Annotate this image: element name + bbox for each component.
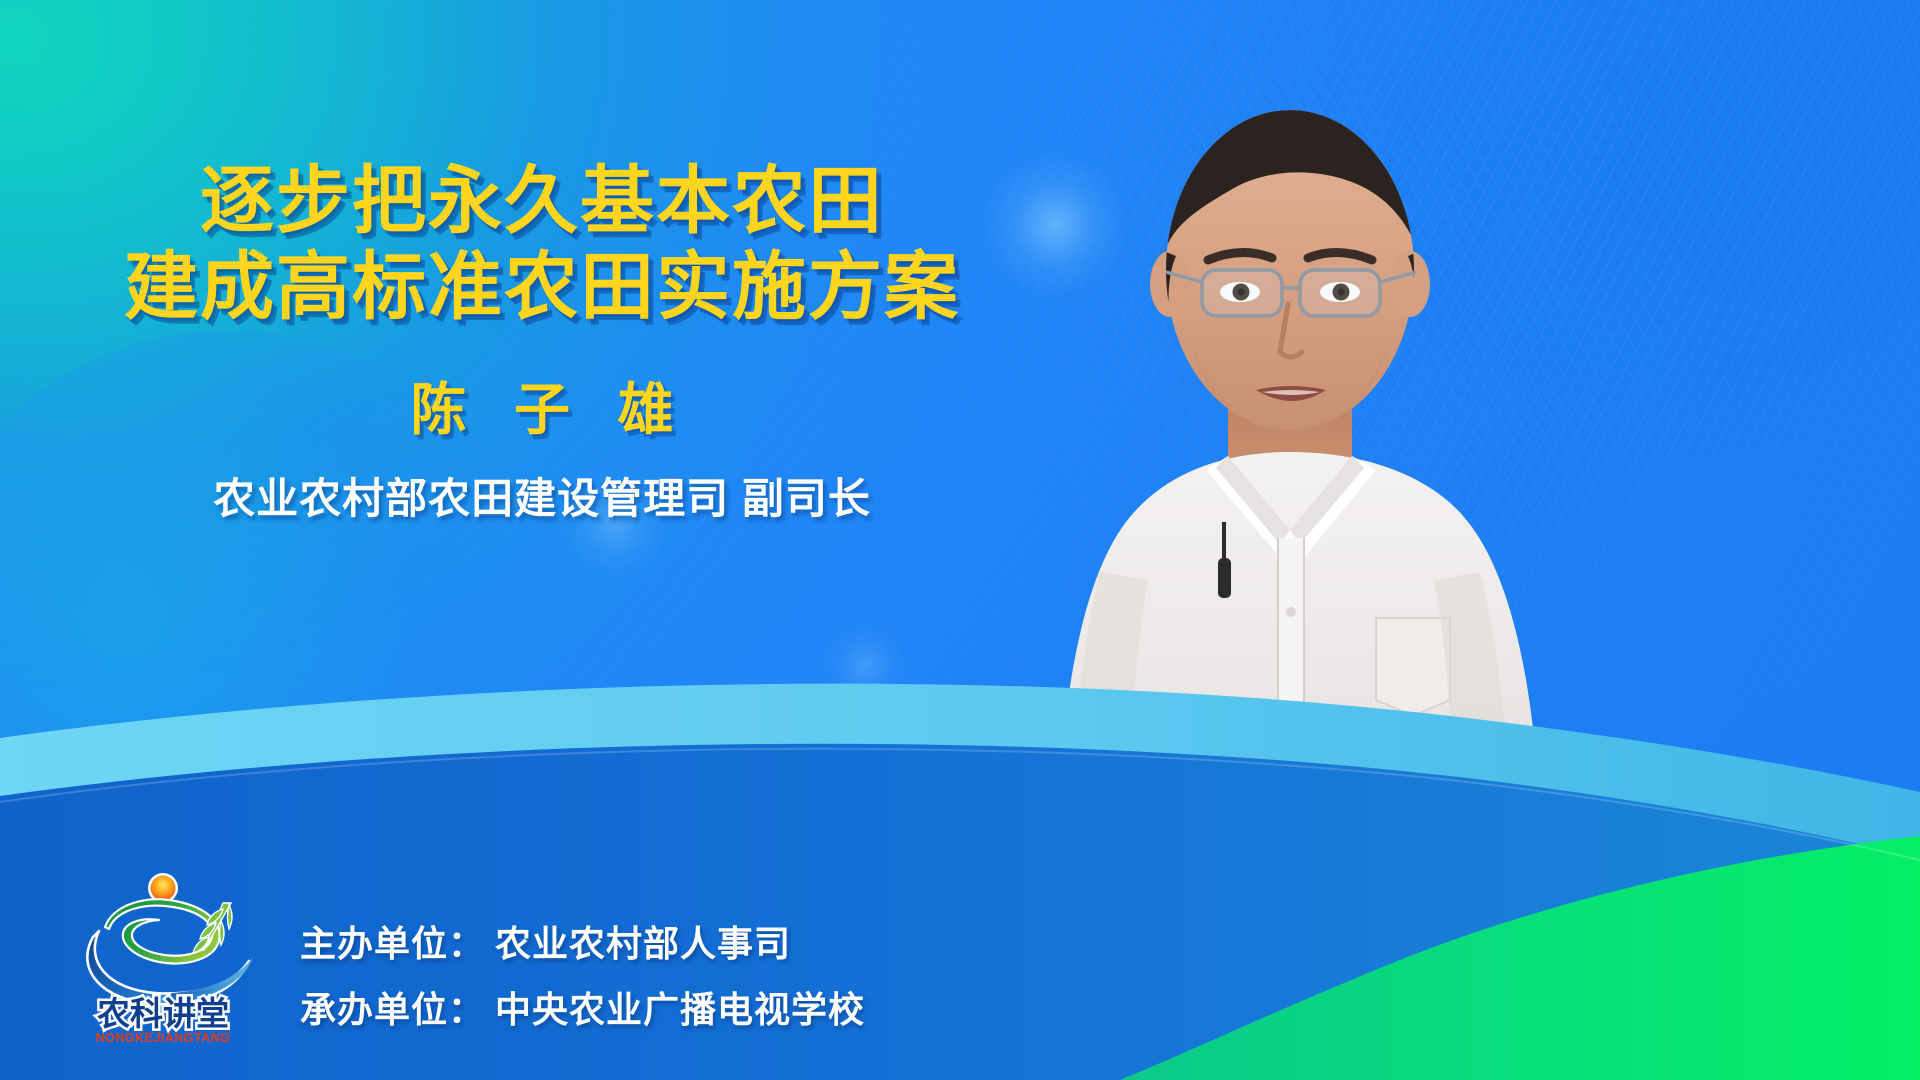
title-line-2: 建成高标准农田实施方案 [92,244,992,330]
logo-title: 农科讲堂 [97,995,229,1032]
footer-row-organizer: 主办单位：农业农村部人事司 [300,926,865,962]
footer-row-host: 承办单位：中央农业广播电视学校 [300,992,865,1028]
program-logo: 农科讲堂 NONGKEJIANGTANG [63,865,263,1050]
footer-host-value: 中央农业广播电视学校 [495,989,865,1030]
title-line-1: 逐步把永久基本农田 [92,158,992,244]
broadcast-title-card: 逐步把永久基本农田 建成高标准农田实施方案 陈 子 雄 农业农村部农田建设管理司… [0,0,1920,1080]
footer-credits: 主办单位：农业农村部人事司 承办单位：中央农业广播电视学校 [300,926,865,1028]
decorative-waves [0,620,1920,1080]
logo-pinyin: NONGKEJIANGTANG [95,1031,230,1045]
lecture-title: 逐步把永久基本农田 建成高标准农田实施方案 [92,158,992,330]
speaker-role: 农业农村部农田建设管理司 副司长 [92,465,992,526]
footer-organizer-value: 农业农村部人事司 [495,923,791,964]
footer-host-label: 承办单位： [300,989,485,1030]
footer-organizer-label: 主办单位： [300,923,485,964]
speaker-name: 陈 子 雄 [92,365,992,446]
